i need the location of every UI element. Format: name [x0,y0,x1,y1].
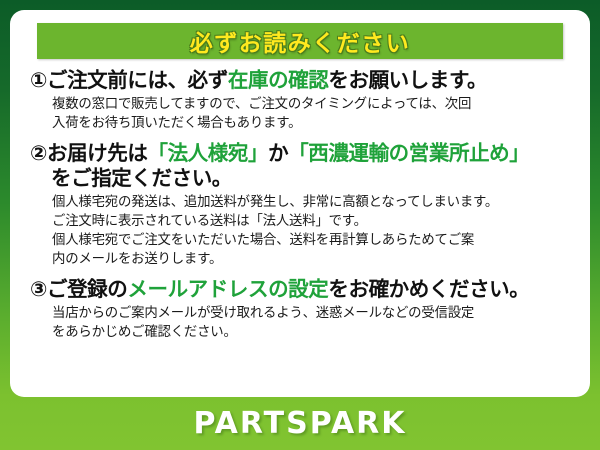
notice-item-1-detail: 複数の窓口で販売してますので、ご注文のタイミングによっては、次回 入荷をお待ち頂… [52,95,570,134]
notice-item-2-detail-line-4: 内のメールをお送りします。 [52,250,570,269]
notice-item-2-detail-line-2: ご注文時に表示されている送料は「法人送料」です。 [52,212,570,231]
notice-item-2-detail-line-3: 個人様宅宛でご注文をいただいた場合、送料を再計算しあらためてご案 [52,231,570,250]
notice-item-3-number: ③ [30,277,47,301]
notice-header-banner: 必ずお読みください [37,23,563,59]
notice-item-3-detail-line-1: 当店からのご案内メールが受け取れるよう、迷惑メールなどの受信設定 [52,304,570,323]
notice-item-3-detail-line-2: をあらかじめご確認ください。 [52,323,570,342]
notice-item-1-detail-line-2: 入荷をお待ち頂いただく場合もあります。 [52,114,570,133]
notice-panel: 必ずお読みください ①ご注文前には、必ず在庫の確認をお願いします。 複数の窓口で… [10,10,590,397]
notice-item-1-number: ① [30,68,47,92]
notice-item-3-detail: 当店からのご案内メールが受け取れるよう、迷惑メールなどの受信設定 をあらかじめご… [52,304,570,343]
notice-item-1-highlight: 在庫の確認 [228,68,329,92]
notice-item-1-text-b: をお願いします。 [328,68,487,92]
notice-item-2-detail: 個人様宅宛の発送は、追加送料が発生し、非常に高額となってしまいます。 ご注文時に… [52,193,570,270]
notice-frame: 必ずお読みください ①ご注文前には、必ず在庫の確認をお願いします。 複数の窓口で… [0,0,600,450]
notice-item-2-highlight-corporate: 「法人様宛」 [147,141,268,165]
notice-item-3-text-a: ご登録の [47,277,127,301]
brand-footer: PARTSPARK [0,397,600,450]
notice-item-1-text-a: ご注文前には、必ず [47,68,228,92]
notice-header-title: 必ずお読みください [190,24,411,58]
notice-item-2-headline-continuation: をご指定ください。 [51,166,570,191]
notice-item-3-headline: ③ご登録のメールアドレスの設定をお確かめください。 [30,277,570,302]
notice-item-2-text-a: お届け先は [47,141,148,165]
notice-item-3: ③ご登録のメールアドレスの設定をお確かめください。 当店からのご案内メールが受け… [30,277,570,343]
notice-item-1-detail-line-1: 複数の窓口で販売してますので、ご注文のタイミングによっては、次回 [52,95,570,114]
notice-item-2-detail-line-1: 個人様宅宛の発送は、追加送料が発生し、非常に高額となってしまいます。 [52,193,570,212]
notice-item-2-headline: ②お届け先は「法人様宛」か「西濃運輸の営業所止め」 [30,141,570,166]
notice-item-2-number: ② [30,141,47,165]
notice-item-2: ②お届け先は「法人様宛」か「西濃運輸の営業所止め」 をご指定ください。 個人様宅… [30,141,570,270]
notice-item-3-text-b: をお確かめください。 [328,277,529,301]
notice-item-list: ①ご注文前には、必ず在庫の確認をお願いします。 複数の窓口で販売してますので、ご… [26,68,574,342]
notice-item-2-highlight-seino: 「西濃運輸の営業所止め」 [288,141,529,165]
notice-item-3-highlight: メールアドレスの設定 [127,277,328,301]
notice-item-1-headline: ①ご注文前には、必ず在庫の確認をお願いします。 [30,68,570,93]
brand-name: PARTSPARK [193,406,406,441]
notice-item-1: ①ご注文前には、必ず在庫の確認をお願いします。 複数の窓口で販売してますので、ご… [30,68,570,134]
notice-item-2-text-b: か [268,141,288,165]
